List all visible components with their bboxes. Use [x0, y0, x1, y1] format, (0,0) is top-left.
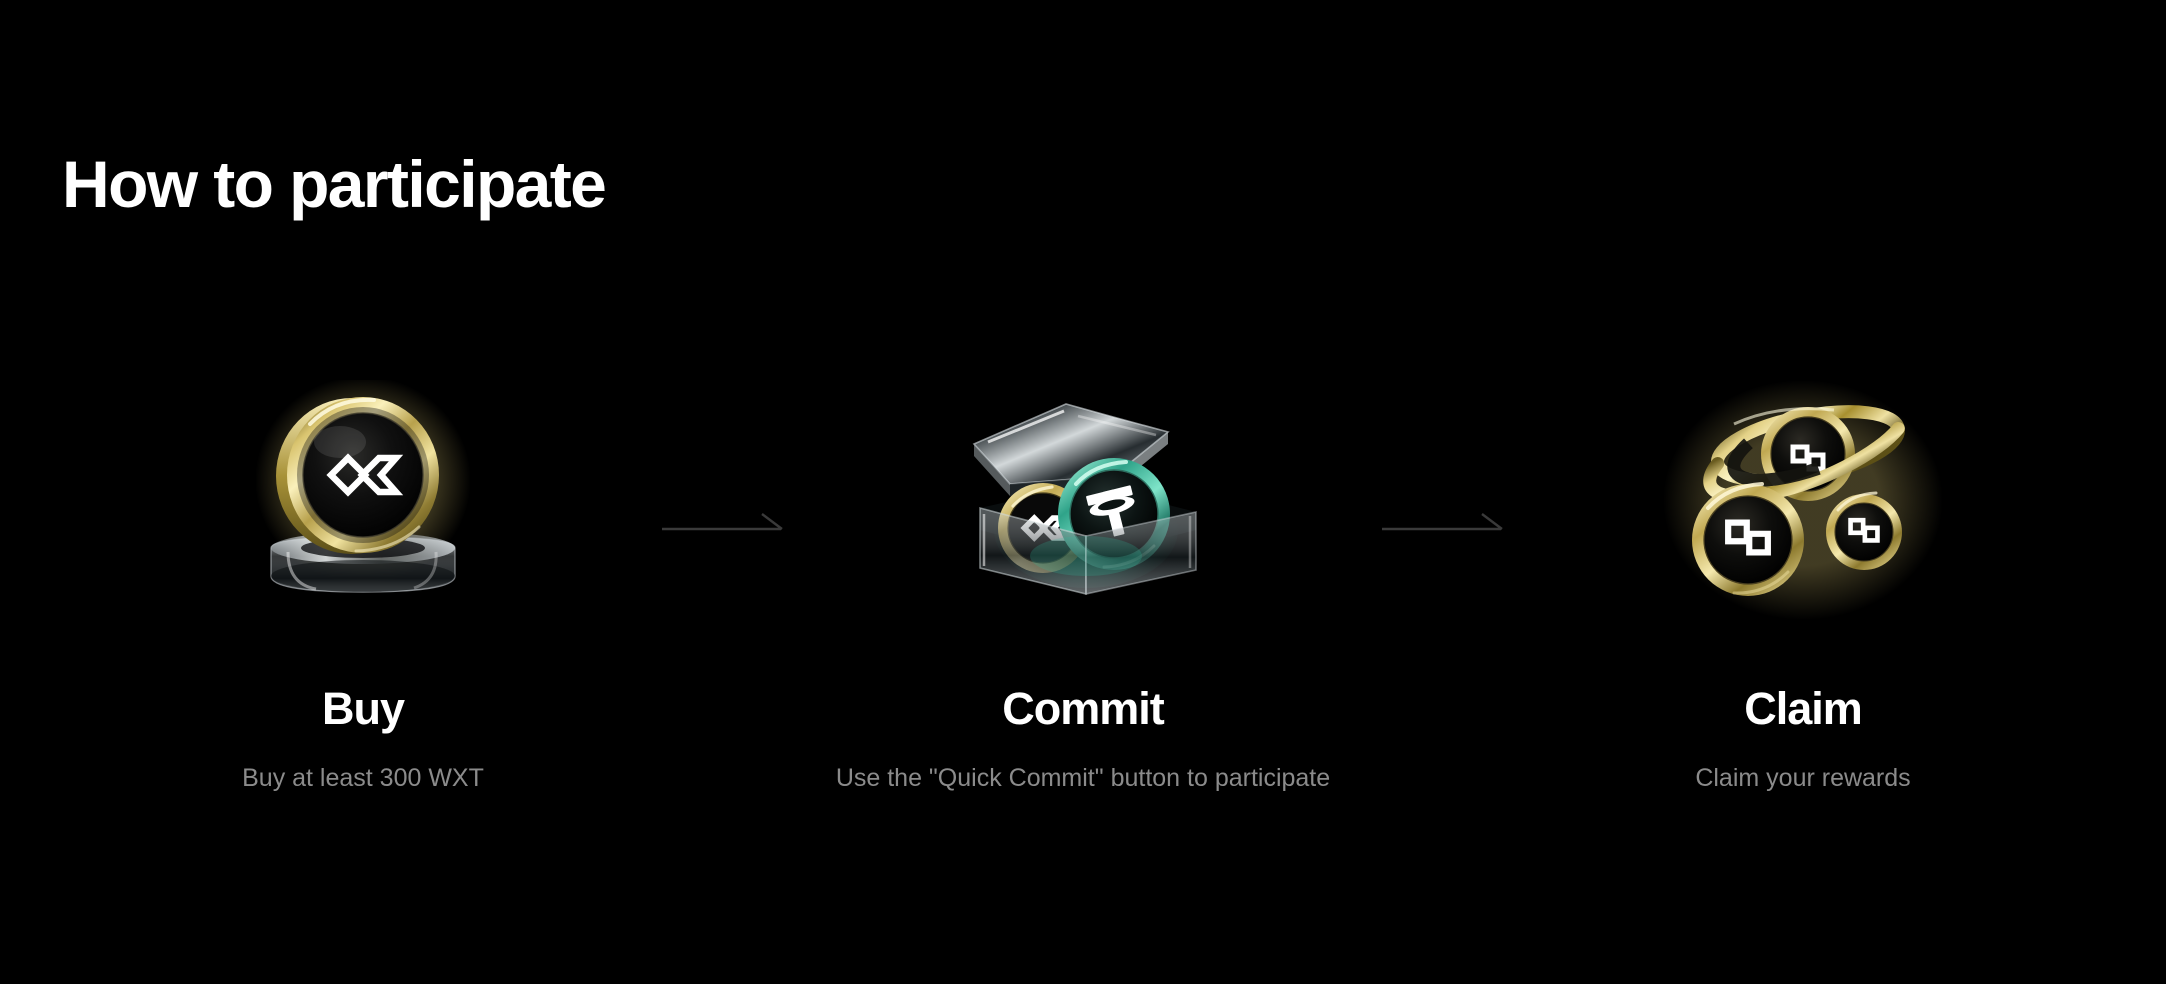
step-desc-buy: Buy at least 300 WXT	[242, 763, 484, 793]
step-desc-claim: Claim your rewards	[1695, 763, 1910, 793]
step-buy: Buy Buy at least 300 WXT	[103, 380, 623, 793]
reward-coin-large	[1692, 484, 1804, 596]
arrow-right-icon	[1381, 508, 1505, 534]
step-title-claim: Claim	[1744, 686, 1862, 731]
gold-coin-on-pedestal-illustration	[198, 380, 528, 620]
steps-row: Buy Buy at least 300 WXT	[0, 380, 2166, 793]
step-commit: Commit Use the "Quick Commit" button to …	[823, 380, 1343, 793]
step-title-commit: Commit	[1002, 686, 1164, 731]
page-title: How to participate	[62, 150, 605, 219]
gold-coins-with-saturn-ring-illustration	[1638, 380, 1968, 620]
arrow-commit-to-claim	[1343, 508, 1543, 534]
step-claim: Claim Claim your rewards	[1543, 380, 2063, 793]
how-to-participate-section: How to participate	[0, 0, 2166, 984]
arrow-buy-to-commit	[623, 508, 823, 534]
open-glass-chest-with-coins-illustration	[918, 380, 1248, 620]
arrow-right-icon	[661, 508, 785, 534]
step-desc-commit: Use the "Quick Commit" button to partici…	[836, 763, 1330, 793]
step-title-buy: Buy	[322, 686, 404, 731]
